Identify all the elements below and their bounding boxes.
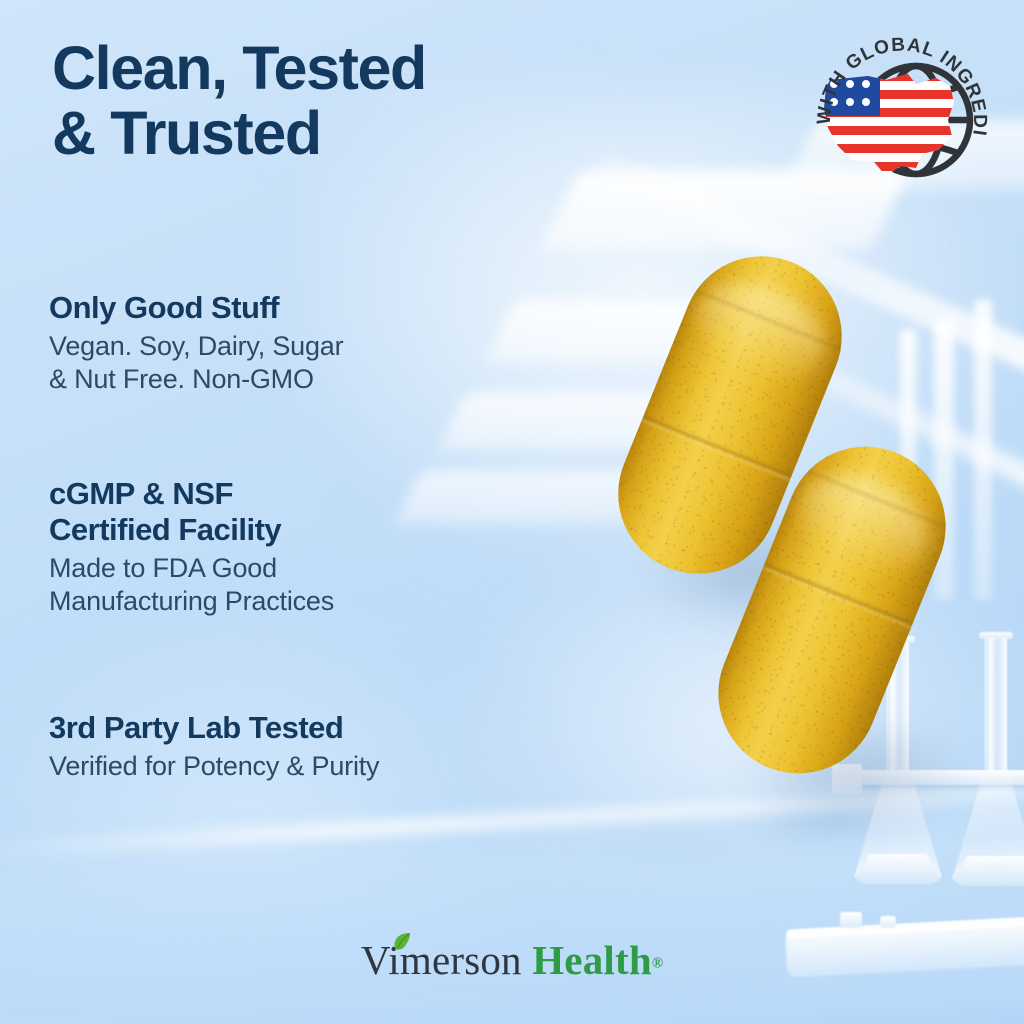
tray-fitting: [880, 916, 896, 928]
benefit-desc-line-1: Made to FDA Good: [49, 553, 277, 583]
benefit-title-line-1: cGMP & NSF: [49, 476, 233, 511]
benefit-block-only-good-stuff: Only Good Stuff Vegan. Soy, Dairy, Sugar…: [49, 290, 529, 396]
headline-line-1: Clean, Tested: [52, 34, 426, 102]
benefit-title: cGMP & NSF Certified Facility: [49, 476, 529, 548]
benefit-desc-line-2: Manufacturing Practices: [49, 586, 334, 616]
window-mullion: [974, 300, 992, 600]
tray-fitting: [840, 912, 862, 928]
benefit-description: Vegan. Soy, Dairy, Sugar & Nut Free. Non…: [49, 330, 529, 396]
page-title: Clean, Tested & Trusted: [52, 36, 612, 165]
headline-line-2: & Trusted: [52, 101, 612, 166]
benefit-title-line-2: Certified Facility: [49, 512, 281, 547]
registered-trademark-symbol: ®: [652, 956, 663, 972]
benefit-desc-line-1: Vegan. Soy, Dairy, Sugar: [49, 331, 343, 361]
brand-logo: Vimerson Health®: [0, 936, 1024, 984]
benefit-block-lab-tested: 3rd Party Lab Tested Verified for Potenc…: [49, 710, 529, 783]
leaf-icon: [392, 932, 412, 952]
logo-word-vimerson: Vimerson: [361, 937, 522, 983]
benefit-title: 3rd Party Lab Tested: [49, 710, 529, 746]
benefit-description: Verified for Potency & Purity: [49, 750, 529, 783]
product-infographic: Clean, Tested & Trusted Only Good Stuff …: [0, 0, 1024, 1024]
benefit-desc-line-2: & Nut Free. Non-GMO: [49, 364, 314, 394]
logo-word-health: Health: [532, 937, 652, 983]
benefit-description: Made to FDA Good Manufacturing Practices: [49, 552, 529, 618]
global-ingredients-badge: WITH GLOBAL INGREDIENTS: [812, 28, 992, 206]
benefit-desc-line-1: Verified for Potency & Purity: [49, 751, 379, 781]
benefit-block-cgmp-nsf: cGMP & NSF Certified Facility Made to FD…: [49, 476, 529, 618]
benefit-title: Only Good Stuff: [49, 290, 529, 326]
